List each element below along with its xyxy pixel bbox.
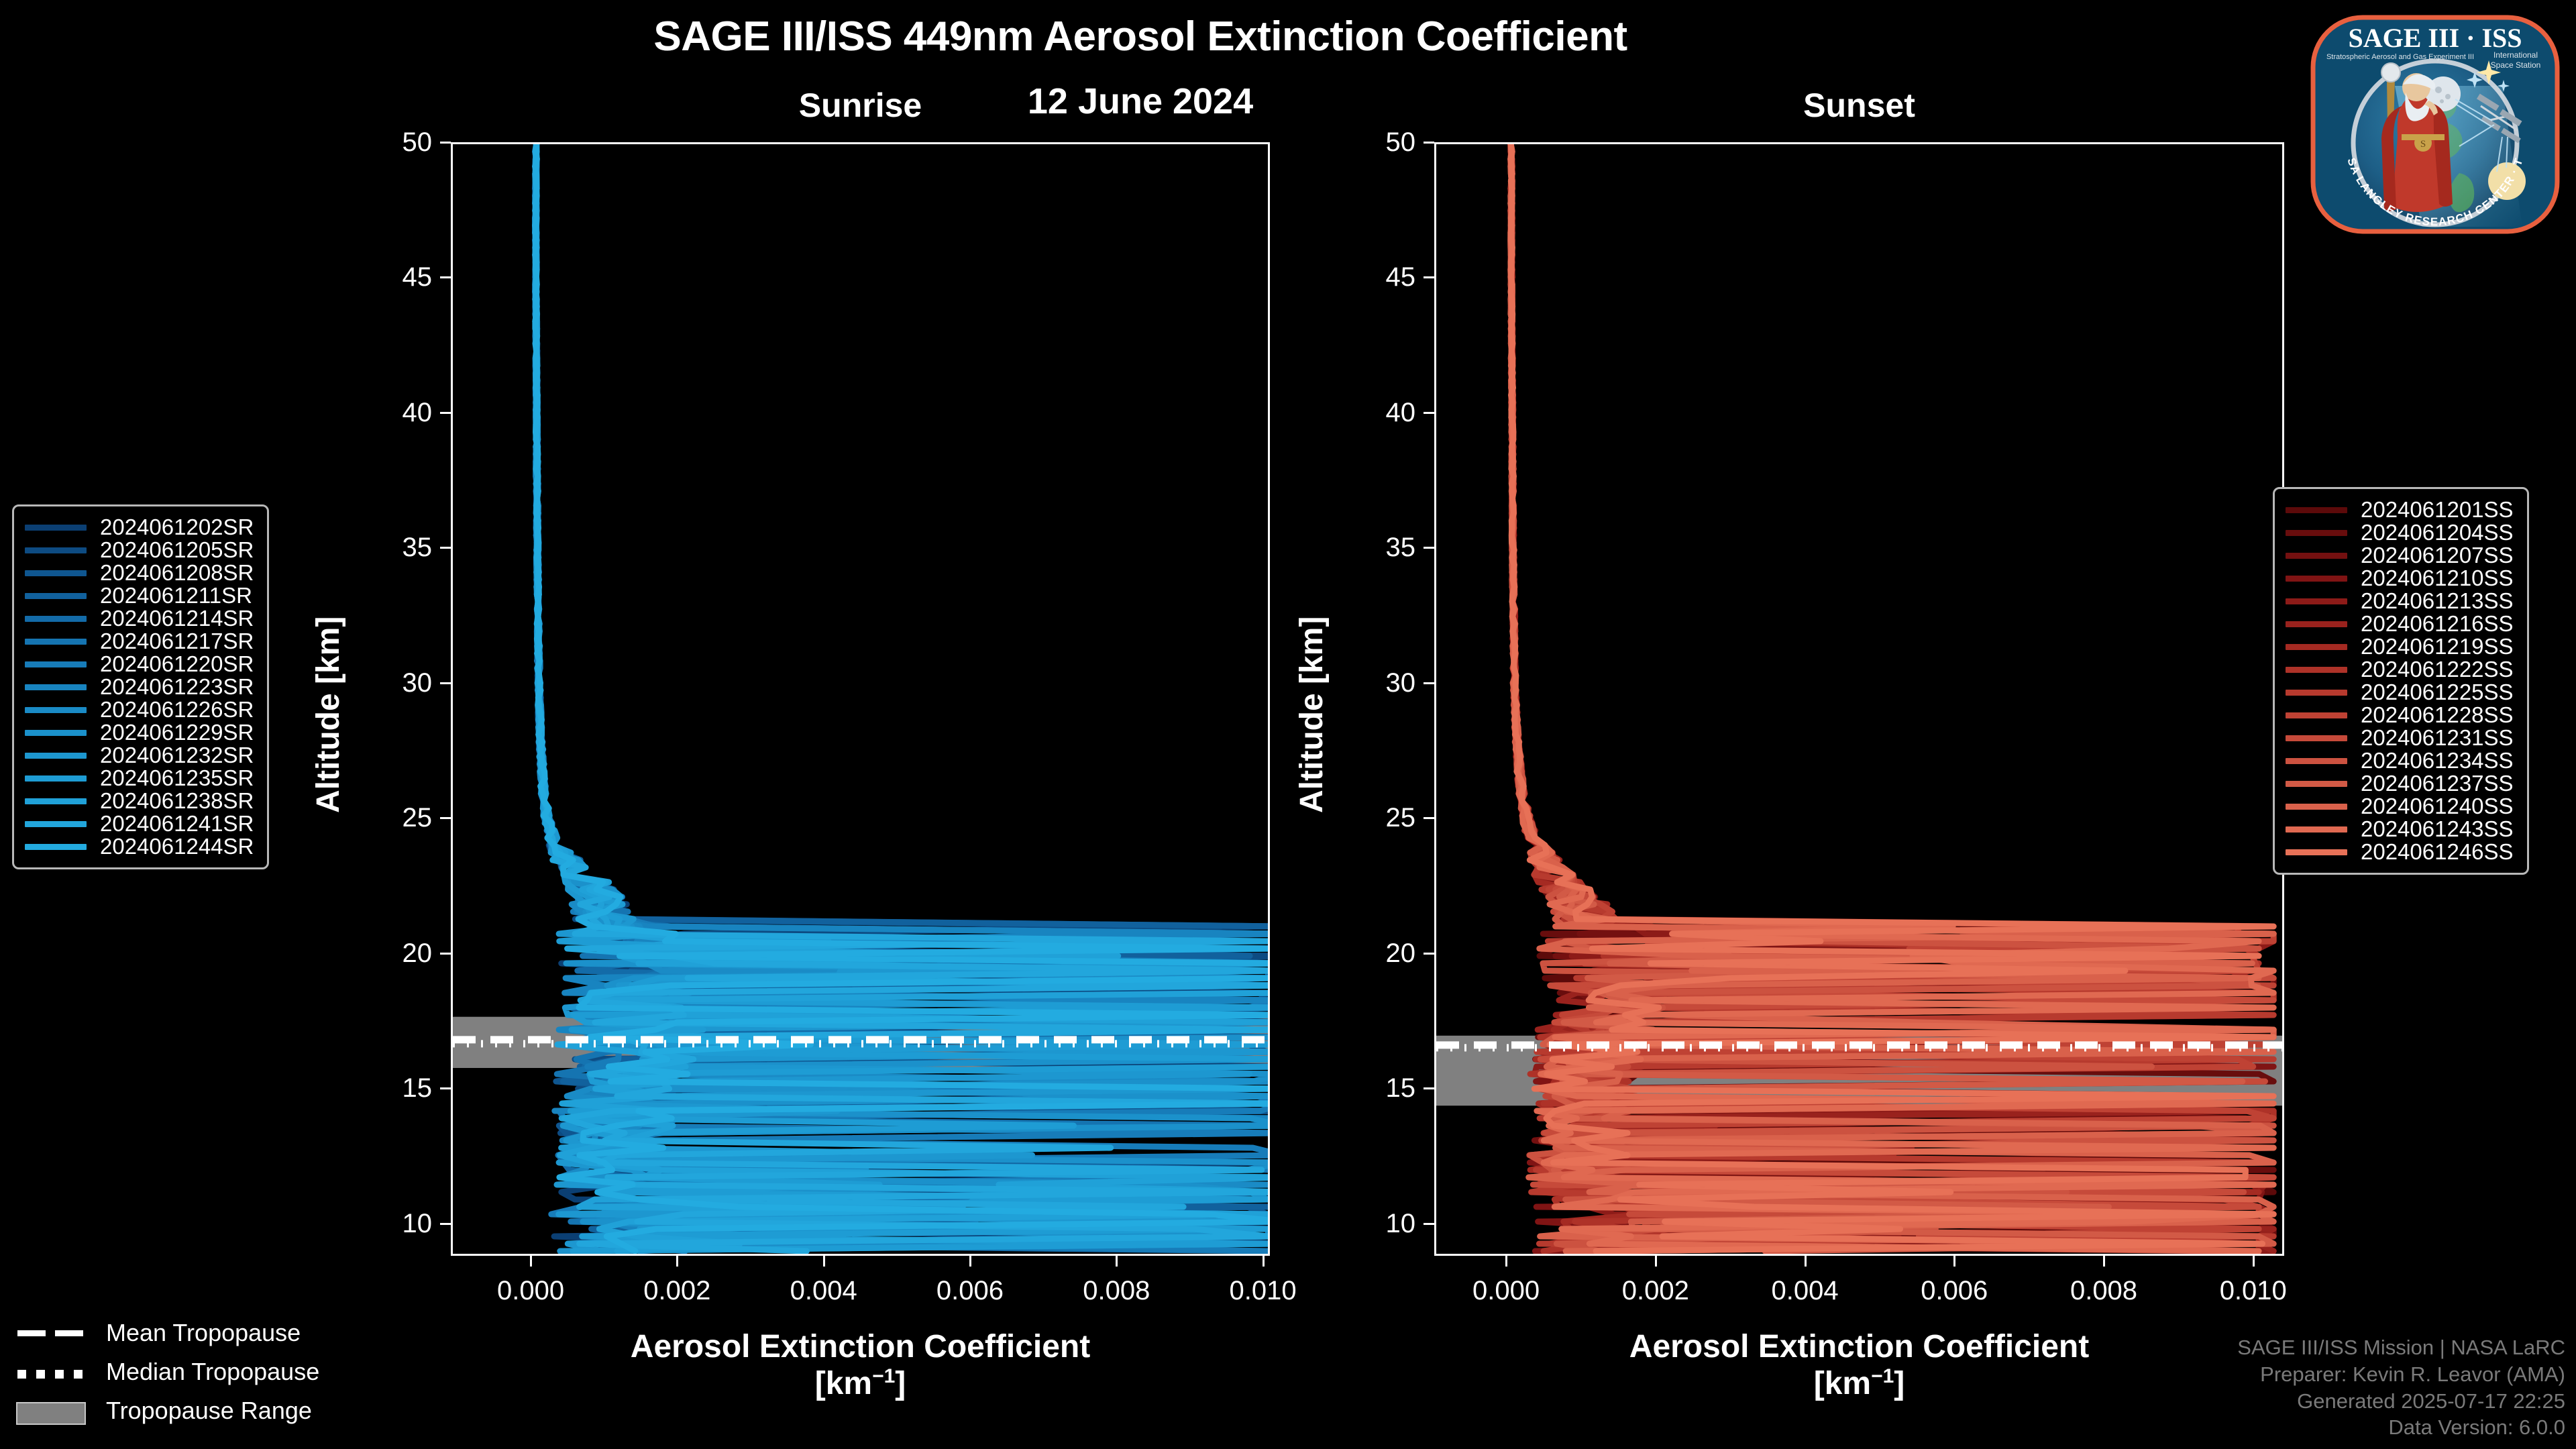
x-axis-tick-mark [1505,1256,1507,1267]
legend-color-swatch [25,707,87,713]
legend-item[interactable]: 2024061205SR [25,539,254,561]
legend-item-label: 2024061234SS [2361,748,2514,773]
legend-item[interactable]: 2024061202SR [25,516,254,539]
legend-color-swatch [25,525,87,531]
legend-item-tropopause-range: Tropopause Range [16,1391,319,1430]
y-axis-tick-label: 35 [352,533,432,563]
legend-item[interactable]: 2024061232SR [25,744,254,767]
y-axis-tick-label: 25 [352,803,432,833]
legend-item-label: 2024061208SR [100,560,254,586]
legend-color-swatch [2286,804,2347,810]
x-axis-tick-mark [1116,1256,1118,1267]
y-axis-tick-label: 40 [352,398,432,428]
legend-item-label: 2024061244SR [100,834,254,859]
legend-item-label: 2024061229SR [100,720,254,745]
legend-color-swatch [2286,644,2347,650]
legend-color-swatch [25,753,87,759]
legend-color-swatch [2286,781,2347,787]
y-axis-tick-label: 50 [352,127,432,158]
legend-item[interactable]: 2024061213SS [2286,590,2514,612]
legend-color-swatch [25,775,87,782]
legend-color-swatch [25,639,87,645]
legend-item-label: 2024061246SS [2361,839,2514,865]
legend-color-swatch [2286,690,2347,696]
legend-item-label: 2024061217SR [100,629,254,654]
sunset-plot-area [1434,142,2284,1256]
y-axis-tick-mark [1424,1087,1434,1089]
x-axis-tick-label: 0.006 [1880,1276,2028,1306]
y-axis-tick-mark [1424,276,1434,278]
legend-item[interactable]: 2024061238SR [25,790,254,812]
x-axis-tick-mark [2253,1256,2255,1267]
legend-item-label: 2024061201SS [2361,497,2514,523]
legend-color-swatch [25,661,87,667]
legend-color-swatch [2286,598,2347,604]
legend-item-label: 2024061222SS [2361,657,2514,682]
x-axis-tick-mark [1805,1256,1807,1267]
x-axis-tick-mark [969,1256,971,1267]
tropopause-range-label: Tropopause Range [106,1397,312,1425]
legend-color-swatch [25,593,87,599]
tropopause-legend: Mean Tropopause Median Tropopause Tropop… [16,1313,319,1430]
x-axis-tick-label: 0.008 [1042,1276,1190,1306]
median-tropopause-label: Median Tropopause [106,1358,319,1386]
legend-item-median-tropopause: Median Tropopause [16,1352,319,1391]
logo-subtitle-right-1: International [2493,50,2538,60]
mean-tropopause-label: Mean Tropopause [106,1319,301,1347]
legend-color-swatch [2286,553,2347,559]
x-axis-tick-label: 0.000 [457,1276,604,1306]
legend-item-label: 2024061226SR [100,697,254,722]
footer-line-mission: SAGE III/ISS Mission | NASA LaRC [2237,1334,2565,1361]
sage-iii-iss-mission-patch-logo: S BALL · NASA LANGLEY RESEARCH CENTER · … [2301,5,2569,244]
legend-color-swatch [2286,507,2347,513]
y-axis-tick-mark [440,547,451,549]
legend-color-swatch [25,570,87,576]
legend-color-swatch [2286,849,2347,855]
legend-item-label: 2024061202SR [100,515,254,540]
x-axis-tick-label: 0.004 [1731,1276,1879,1306]
x-axis-tick-mark [1263,1256,1265,1267]
x-axis-tick-mark [530,1256,532,1267]
logo-title: SAGE III · ISS [2348,23,2522,53]
x-axis-tick-label: 0.008 [2030,1276,2178,1306]
legend-item-label: 2024061213SS [2361,588,2514,614]
legend-item-label: 2024061204SS [2361,520,2514,545]
legend-item[interactable]: 2024061219SS [2286,635,2514,658]
legend-item[interactable]: 2024061237SS [2286,772,2514,795]
y-axis-tick-mark [440,1087,451,1089]
legend-color-swatch [2286,530,2347,536]
logo-subtitle-right-2: Space Station [2491,60,2541,70]
legend-item[interactable]: 2024061216SS [2286,612,2514,635]
y-axis-tick-mark [1424,953,1434,955]
legend-color-swatch [25,684,87,690]
legend-item-label: 2024061243SS [2361,816,2514,842]
y-axis-tick-mark [440,682,451,684]
legend-color-swatch [2286,667,2347,673]
x-axis-units: [km−1] [1814,1366,1905,1401]
legend-item-mean-tropopause: Mean Tropopause [16,1313,319,1352]
legend-item-label: 2024061225SS [2361,680,2514,705]
legend-item[interactable]: 2024061246SS [2286,841,2514,863]
legend-item[interactable]: 2024061229SR [25,721,254,744]
y-axis-tick-label: 10 [352,1209,432,1239]
legend-item[interactable]: 2024061243SS [2286,818,2514,841]
y-axis-tick-mark [440,817,451,819]
x-axis-tick-mark [1655,1256,1657,1267]
legend-color-swatch [25,730,87,736]
legend-item-label: 2024061216SS [2361,611,2514,637]
legend-item[interactable]: 2024061223SR [25,676,254,698]
legend-item[interactable]: 2024061214SR [25,607,254,630]
x-axis-tick-mark [823,1256,825,1267]
legend-item[interactable]: 2024061226SR [25,698,254,721]
legend-color-swatch [2286,621,2347,627]
legend-color-swatch [25,821,87,827]
legend-color-swatch [25,547,87,553]
y-axis-tick-mark [1424,547,1434,549]
legend-item-label: 2024061237SS [2361,771,2514,796]
footer-line-preparer: Preparer: Kevin R. Leavor (AMA) [2237,1361,2565,1388]
x-axis-tick-mark [1953,1256,1955,1267]
legend-item-label: 2024061223SR [100,674,254,700]
legend-item[interactable]: 2024061211SR [25,584,254,607]
legend-item[interactable]: 2024061210SS [2286,567,2514,590]
y-axis-label: Altitude [km] [310,616,347,813]
y-axis-tick-label: 50 [1335,127,1415,158]
footer-line-data-version: Data Version: 6.0.0 [2237,1414,2565,1441]
legend-item[interactable]: 2024061225SS [2286,681,2514,704]
x-axis-tick-label: 0.002 [1582,1276,1729,1306]
legend-color-swatch [2286,712,2347,718]
dotted-line-icon [16,1363,90,1381]
dashed-line-icon [16,1324,90,1342]
footer-line-generated: Generated 2025-07-17 22:25 [2237,1388,2565,1415]
legend-color-swatch [25,616,87,622]
legend-color-swatch [25,844,87,850]
y-axis-tick-label: 30 [1335,668,1415,698]
legend-item-label: 2024061235SR [100,765,254,791]
legend-item[interactable]: 2024061241SR [25,812,254,835]
sunrise-event-legend[interactable]: 2024061202SR2024061205SR2024061208SR2024… [12,504,269,869]
sunset-panel-title: Sunset [1434,86,2284,125]
y-axis-tick-label: 30 [352,668,432,698]
legend-item-label: 2024061219SS [2361,634,2514,659]
y-axis-tick-mark [1424,682,1434,684]
sunrise-plot-area [451,142,1270,1256]
legend-item-label: 2024061211SR [100,583,252,608]
legend-item-label: 2024061214SR [100,606,254,631]
x-axis-label-text: Aerosol Extinction Coefficient [631,1329,1090,1364]
legend-item-label: 2024061210SS [2361,566,2514,591]
legend-color-swatch [2286,576,2347,582]
x-axis-tick-label: 0.004 [750,1276,898,1306]
y-axis-tick-mark [440,412,451,414]
legend-item[interactable]: 2024061204SS [2286,521,2514,544]
x-axis-tick-label: 0.002 [603,1276,751,1306]
x-axis-units: [km−1] [815,1366,906,1401]
legend-item[interactable]: 2024061217SR [25,630,254,653]
legend-item-label: 2024061207SS [2361,543,2514,568]
y-axis-tick-label: 20 [352,938,432,969]
y-axis-tick-mark [1424,412,1434,414]
y-axis-tick-label: 25 [1335,803,1415,833]
x-axis-tick-label: 0.000 [1432,1276,1580,1306]
y-axis-tick-label: 15 [352,1073,432,1104]
legend-item-label: 2024061228SS [2361,702,2514,728]
page-title: SAGE III/ISS 449nm Aerosol Extinction Co… [0,15,2281,58]
sunrise-panel-title: Sunrise [451,86,1270,125]
legend-item-label: 2024061205SR [100,537,254,563]
y-axis-tick-mark [440,142,451,144]
legend-color-swatch [25,798,87,804]
legend-item[interactable]: 2024061222SS [2286,658,2514,681]
legend-item[interactable]: 2024061231SS [2286,727,2514,749]
legend-item-label: 2024061220SR [100,651,254,677]
legend-item-label: 2024061240SS [2361,794,2514,819]
y-axis-tick-mark [1424,1223,1434,1225]
y-axis-tick-mark [440,1223,451,1225]
legend-item[interactable]: 2024061208SR [25,561,254,584]
y-axis-label: Altitude [km] [1293,616,1330,813]
x-axis-tick-label: 0.006 [896,1276,1044,1306]
y-axis-tick-label: 15 [1335,1073,1415,1104]
y-axis-tick-mark [1424,142,1434,144]
x-axis-label: Aerosol Extinction Coefficient[km−1] [1434,1328,2284,1402]
x-axis-tick-label: 0.010 [2180,1276,2327,1306]
legend-item[interactable]: 2024061207SS [2286,544,2514,567]
logo-subtitle-left: Stratospheric Aerosol and Gas Experiment… [2326,53,2474,61]
y-axis-tick-mark [440,953,451,955]
y-axis-tick-label: 35 [1335,533,1415,563]
legend-item-label: 2024061238SR [100,788,254,814]
legend-item[interactable]: 2024061235SR [25,767,254,790]
legend-item-label: 2024061241SR [100,811,254,837]
x-axis-tick-mark [676,1256,678,1267]
legend-item[interactable]: 2024061240SS [2286,795,2514,818]
y-axis-tick-label: 10 [1335,1209,1415,1239]
x-axis-label: Aerosol Extinction Coefficient[km−1] [451,1328,1270,1402]
y-axis-tick-label: 20 [1335,938,1415,969]
legend-item[interactable]: 2024061244SR [25,835,254,858]
legend-color-swatch [2286,735,2347,741]
gray-band-swatch [16,1402,90,1419]
y-axis-tick-mark [1424,817,1434,819]
legend-item[interactable]: 2024061234SS [2286,749,2514,772]
x-axis-label-text: Aerosol Extinction Coefficient [1629,1329,2089,1364]
legend-item-label: 2024061232SR [100,743,254,768]
y-axis-tick-label: 40 [1335,398,1415,428]
x-axis-tick-label: 0.010 [1189,1276,1337,1306]
y-axis-tick-label: 45 [352,262,432,292]
legend-item[interactable]: 2024061201SS [2286,498,2514,521]
legend-color-swatch [2286,826,2347,833]
legend-item[interactable]: 2024061228SS [2286,704,2514,727]
x-axis-tick-mark [2103,1256,2105,1267]
svg-text:S: S [2420,139,2426,150]
sunset-event-legend[interactable]: 2024061201SS2024061204SS2024061207SS2024… [2273,487,2529,875]
legend-color-swatch [2286,758,2347,764]
y-axis-tick-mark [440,276,451,278]
footer-credits: SAGE III/ISS Mission | NASA LaRC Prepare… [2237,1334,2565,1441]
legend-item-label: 2024061231SS [2361,725,2514,751]
y-axis-tick-label: 45 [1335,262,1415,292]
legend-item[interactable]: 2024061220SR [25,653,254,676]
